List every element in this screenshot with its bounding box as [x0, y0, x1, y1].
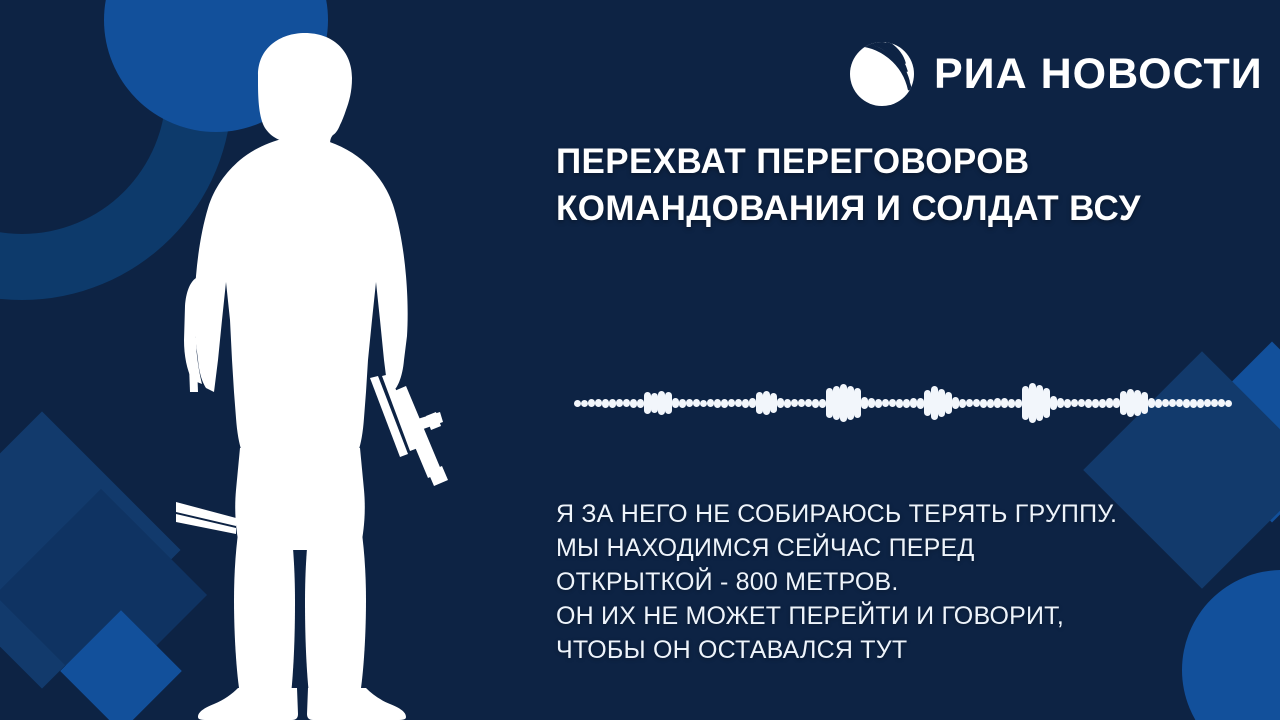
waveform-bar: [917, 398, 924, 409]
audio-waveform-icon: [574, 376, 1116, 430]
waveform-bar: [637, 399, 644, 408]
waveform-bar: [1155, 399, 1162, 408]
waveform-bar: [1197, 399, 1204, 408]
waveform-bar: [1085, 399, 1092, 408]
transcript-line-1: Я ЗА НЕГО НЕ СОБИРАЮСЬ ТЕРЯТЬ ГРУППУ.: [556, 497, 1236, 531]
waveform-bar: [665, 392, 672, 414]
waveform-bar: [742, 399, 749, 408]
transcript-line-3: ОТКРЫТКОЙ - 800 МЕТРОВ.: [556, 565, 1236, 599]
waveform-bar: [889, 399, 896, 407]
waveform-bar: [721, 399, 728, 408]
waveform-bar: [1169, 399, 1176, 407]
waveform-bar: [791, 399, 798, 407]
waveform-bar: [595, 399, 602, 407]
waveform-bar: [966, 399, 973, 407]
waveform-bar: [1092, 399, 1099, 408]
news-graphic-stage: РИА НОВОСТИ ПЕРЕХВАТ ПЕРЕГОВОРОВ КОМАНДО…: [0, 0, 1280, 720]
waveform-bar: [875, 399, 882, 408]
waveform-bar: [679, 399, 686, 408]
waveform-bar: [1099, 399, 1106, 408]
waveform-bar: [714, 399, 721, 408]
waveform-bar: [994, 398, 1001, 408]
waveform-bar: [959, 399, 966, 408]
transcript-line-4: ОН ИХ НЕ МОЖЕТ ПЕРЕЙТИ И ГОВОРИТ,: [556, 599, 1236, 633]
waveform-bar: [770, 393, 777, 413]
waveform-bar: [651, 393, 658, 413]
waveform-bar: [945, 392, 952, 414]
transcript-line-5: ЧТОБЫ ОН ОСТАВАЛСЯ ТУТ: [556, 633, 1236, 667]
waveform-bar: [1225, 400, 1232, 407]
waveform-bar: [952, 397, 959, 409]
waveform-bar: [819, 399, 826, 408]
waveform-bar: [658, 391, 665, 415]
brand-name: РИА НОВОСТИ: [934, 53, 1263, 96]
waveform-bar: [707, 399, 714, 407]
ria-sphere-logo-icon: [846, 38, 918, 110]
waveform-bar: [616, 399, 623, 407]
waveform-bar: [1008, 399, 1015, 408]
waveform-bar: [1176, 399, 1183, 407]
waveform-bar: [1148, 398, 1155, 408]
transcript-line-2: МЫ НАХОДИМСЯ СЕЙЧАС ПЕРЕД: [556, 531, 1236, 565]
waveform-bar: [1134, 390, 1141, 416]
waveform-bar: [728, 399, 735, 407]
waveform-bar: [1029, 383, 1036, 423]
waveform-bar: [833, 386, 840, 420]
waveform-bar: [1204, 399, 1211, 407]
waveform-bar: [826, 388, 833, 418]
waveform-bar: [588, 399, 595, 407]
waveform-bar: [700, 400, 707, 407]
waveform-bar: [763, 391, 770, 415]
waveform-bar: [1162, 399, 1169, 407]
waveform-bar: [1036, 385, 1043, 421]
waveform-bar: [1141, 392, 1148, 414]
waveform-bar: [777, 398, 784, 408]
waveform-bar: [1127, 389, 1134, 417]
soldier-silhouette: [140, 20, 460, 720]
waveform-bar: [798, 399, 805, 407]
waveform-bar: [693, 399, 700, 407]
waveform-bar: [896, 399, 903, 408]
waveform-bar: [1001, 398, 1008, 408]
waveform-bar: [581, 400, 588, 407]
brand-logo: РИА НОВОСТИ: [846, 38, 1263, 110]
waveform-bar: [938, 389, 945, 417]
page-title: ПЕРЕХВАТ ПЕРЕГОВОРОВ КОМАНДОВАНИЯ И СОЛД…: [556, 139, 1256, 233]
waveform-bar: [630, 399, 637, 408]
waveform-bar: [931, 386, 938, 420]
waveform-bar: [847, 386, 854, 420]
waveform-bar: [686, 399, 693, 407]
waveform-bar: [1190, 399, 1197, 408]
waveform-bar: [973, 399, 980, 407]
waveform-bar: [1050, 396, 1057, 410]
decor-diamond-right-bright: [1181, 341, 1280, 522]
waveform-bar: [784, 399, 791, 408]
waveform-bar: [1057, 398, 1064, 408]
waveform-bar: [987, 399, 994, 408]
waveform-bar: [924, 390, 931, 416]
headline-line-1: ПЕРЕХВАТ ПЕРЕГОВОРОВ: [556, 139, 1256, 186]
waveform-bar: [861, 397, 868, 409]
waveform-bar: [812, 399, 819, 408]
waveform-bar: [672, 398, 679, 408]
waveform-bar: [1043, 388, 1050, 418]
transcript-text: Я ЗА НЕГО НЕ СОБИРАЮСЬ ТЕРЯТЬ ГРУППУ. МЫ…: [556, 497, 1236, 667]
waveform-bar: [756, 392, 763, 414]
waveform-bar: [980, 399, 987, 408]
waveform-bar: [1106, 398, 1113, 408]
waveform-bar: [623, 399, 630, 407]
waveform-bar: [1211, 399, 1218, 407]
waveform-bar: [1078, 399, 1085, 407]
waveform-bar: [735, 399, 742, 407]
waveform-bar: [1071, 399, 1078, 407]
waveform-bar: [1120, 391, 1127, 415]
waveform-bar: [574, 400, 581, 407]
waveform-bar: [609, 399, 616, 408]
waveform-bar: [1015, 399, 1022, 408]
decor-diamond-bottom-left-bright: [0, 415, 41, 585]
waveform-bar: [1183, 399, 1190, 408]
waveform-bar: [882, 399, 889, 407]
waveform-bar: [749, 398, 756, 408]
waveform-bar: [644, 392, 651, 414]
waveform-bar: [1064, 399, 1071, 408]
waveform-bar: [868, 398, 875, 408]
waveform-bar: [805, 399, 812, 407]
waveform-bar: [1022, 386, 1029, 420]
waveform-bar: [602, 399, 609, 408]
waveform-bar: [854, 388, 861, 418]
waveform-bar: [910, 398, 917, 408]
waveform-bar: [903, 399, 910, 408]
waveform-bar: [1218, 399, 1225, 407]
waveform-bar: [1113, 398, 1120, 408]
waveform-bar: [840, 384, 847, 422]
headline-line-2: КОМАНДОВАНИЯ И СОЛДАТ ВСУ: [556, 186, 1256, 233]
